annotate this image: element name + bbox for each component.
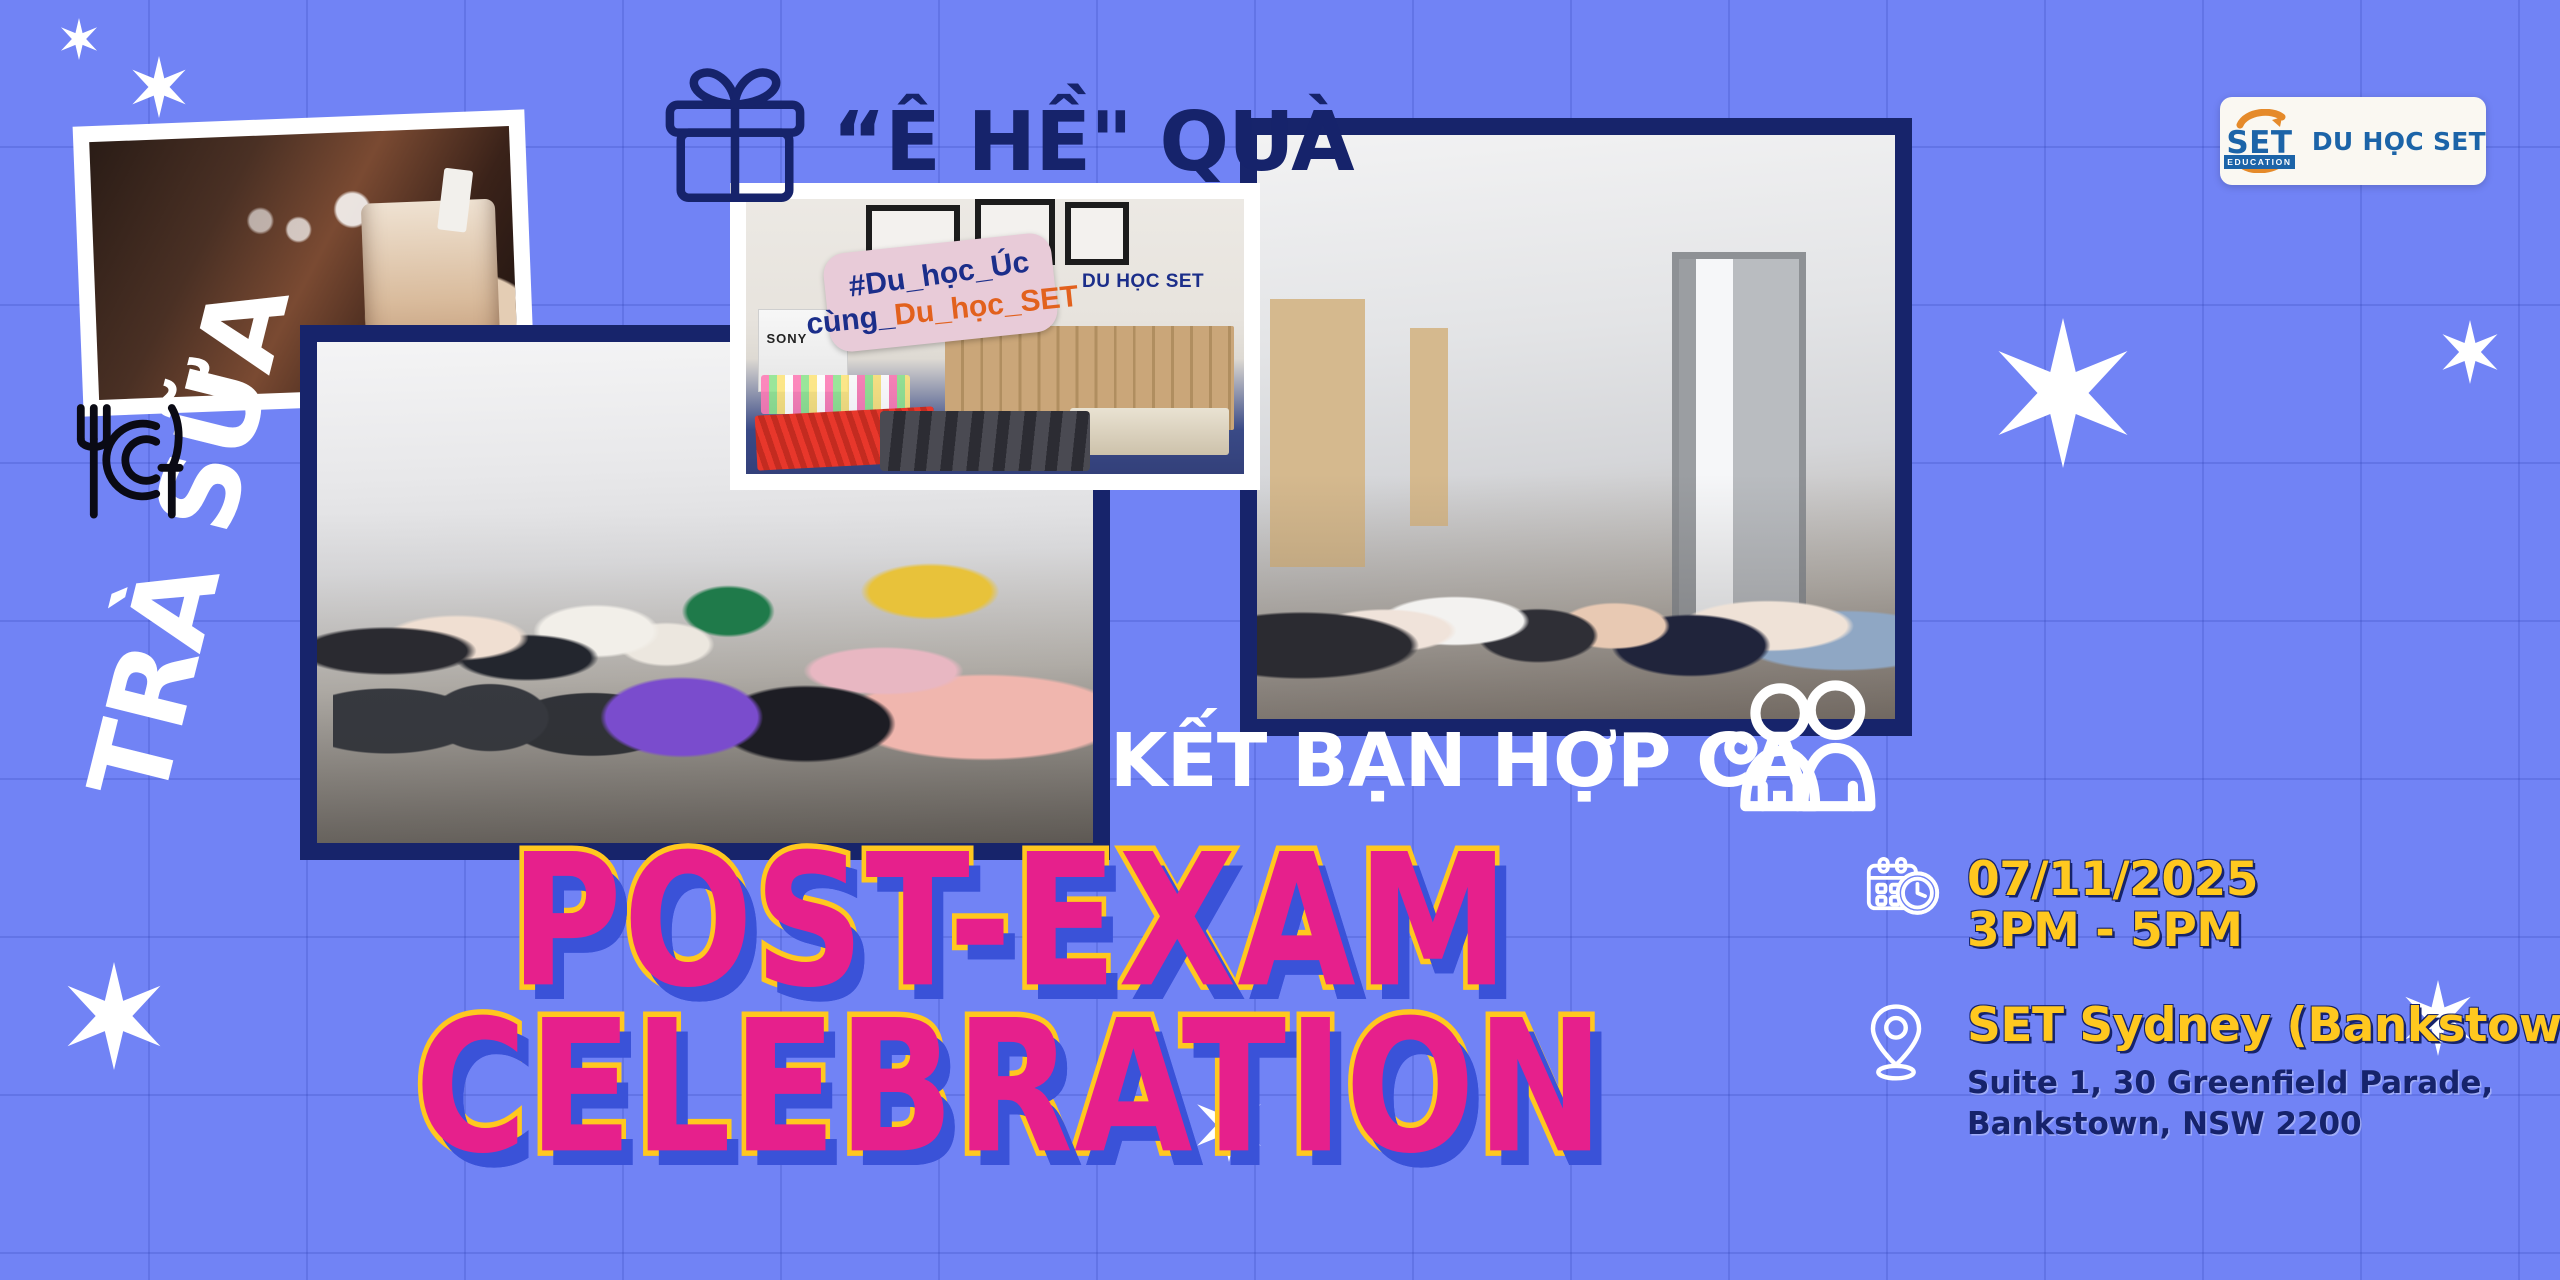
calendar-clock-icon xyxy=(1865,855,1941,927)
event-info-block: 07/11/2025 3PM - 5PM SET Sydney (Banksto… xyxy=(1865,855,2505,1144)
sony-box-label: SONY xyxy=(766,331,807,346)
poster-canvas: SONY #Du_học_Úc cùng_Du_học_SET DU HỌC S… xyxy=(0,0,2560,1280)
classroom-photo-frame xyxy=(1240,118,1912,736)
gift-table-photo-frame: SONY #Du_học_Úc cùng_Du_học_SET DU HỌC S… xyxy=(730,183,1260,490)
classroom-photo xyxy=(1257,135,1895,719)
decorative-star xyxy=(1988,318,2138,468)
gift-table-photo: SONY #Du_học_Úc cùng_Du_học_SET DU HỌC S… xyxy=(746,199,1244,474)
event-address-line2: Bankstown, NSW 2200 xyxy=(1967,1104,2560,1144)
event-date: 07/11/2025 xyxy=(1967,855,2505,906)
event-address-line1: Suite 1, 30 Greenfield Parade, xyxy=(1967,1063,2560,1103)
event-address: Suite 1, 30 Greenfield Parade, Bankstown… xyxy=(1967,1063,2560,1144)
set-logo-subtext: EDUCATION xyxy=(2224,155,2295,169)
decorative-star xyxy=(128,56,190,118)
event-venue: SET Sydney (Bankstown) xyxy=(1967,1001,2560,1052)
cutlery-icon xyxy=(60,395,190,525)
title-line-1: POST-EXAM xyxy=(286,838,1734,1008)
event-time: 3PM - 5PM xyxy=(1967,906,2505,957)
map-pin-icon xyxy=(1865,1001,1941,1088)
decorative-star xyxy=(1192,1088,1266,1162)
brand-name: DU HỌC SET xyxy=(2312,127,2486,156)
hashtag-sign-line2-prefix: cùng_ xyxy=(804,299,895,341)
event-location-row: SET Sydney (Bankstown) Suite 1, 30 Green… xyxy=(1865,1001,2505,1144)
title-line-2: CELEBRATION xyxy=(286,1004,1734,1174)
event-datetime-row: 07/11/2025 3PM - 5PM xyxy=(1865,855,2505,957)
gift-icon xyxy=(655,52,815,207)
decorative-star xyxy=(2438,320,2502,384)
poster-title: POST-EXAM CELEBRATION xyxy=(300,838,1720,1143)
set-logo-mark: SET EDUCATION xyxy=(2220,109,2299,173)
feature-label-e-he-qua: “Ê HỀ" QUÀ xyxy=(832,95,1354,190)
brand-logo-badge[interactable]: SET EDUCATION DU HỌC SET xyxy=(2220,97,2486,185)
gift-photo-logo-text: DU HỌC SET xyxy=(1082,271,1204,293)
decorative-star xyxy=(58,18,100,60)
feature-label-ket-ban: KẾT BẠN HỢP CẠ xyxy=(1110,718,1807,804)
decorative-star xyxy=(60,962,168,1070)
